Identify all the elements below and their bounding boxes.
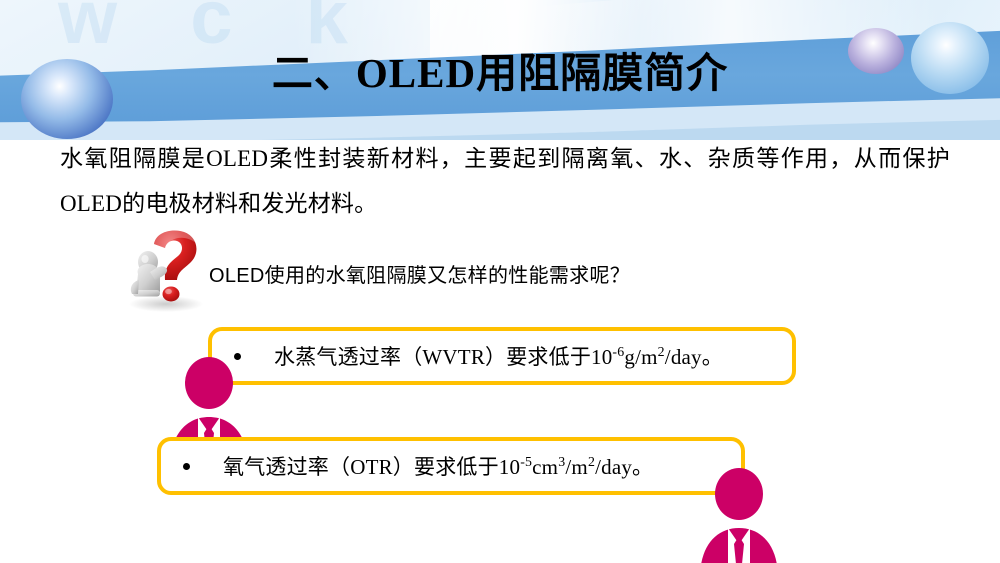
wvtr-unit: g/m	[624, 345, 657, 369]
requirement-callout-otr: 氧气透过率（OTR）要求低于10-5cm3/m2/day。	[157, 437, 745, 495]
page-title: 二、OLED用阻隔膜简介	[0, 53, 1000, 94]
requirement-text-otr: 氧气透过率（OTR）要求低于10-5cm3/m2/day。	[223, 451, 653, 481]
wvtr-exponent: -6	[612, 344, 624, 359]
otr-text-tail: /day。	[595, 455, 653, 479]
otr-exponent: -5	[520, 454, 532, 469]
person-silhouette-icon-2	[698, 468, 780, 563]
requirement-text-wvtr: 水蒸气透过率（WVTR）要求低于10-6g/m2/day。	[274, 341, 723, 371]
wvtr-text-prefix: 水蒸气透过率（WVTR）要求低于10	[274, 345, 612, 369]
otr-unit: cm	[532, 455, 558, 479]
intro-paragraph: 水氧阻隔膜是OLED柔性封装新材料，主要起到隔离氧、水、杂质等作用，从而保护OL…	[60, 136, 950, 226]
bullet-marker	[183, 463, 190, 470]
wvtr-text-tail: /day。	[665, 345, 723, 369]
requirement-callout-wvtr: 水蒸气透过率（WVTR）要求低于10-6g/m2/day。	[208, 327, 796, 385]
otr-unit-exponent-2: 2	[588, 454, 595, 469]
wvtr-unit-exponent: 2	[658, 344, 665, 359]
question-text: OLED使用的水氧阻隔膜又怎样的性能需求呢？	[209, 259, 630, 288]
otr-text-mid: /m	[565, 455, 588, 479]
otr-text-prefix: 氧气透过率（OTR）要求低于10	[223, 455, 520, 479]
question-mark-icon	[120, 228, 210, 313]
slide-canvas: w c k 二、OLED用阻隔膜简介 水氧阻隔膜是OLED柔性封装新材料，主要起…	[0, 0, 1000, 563]
